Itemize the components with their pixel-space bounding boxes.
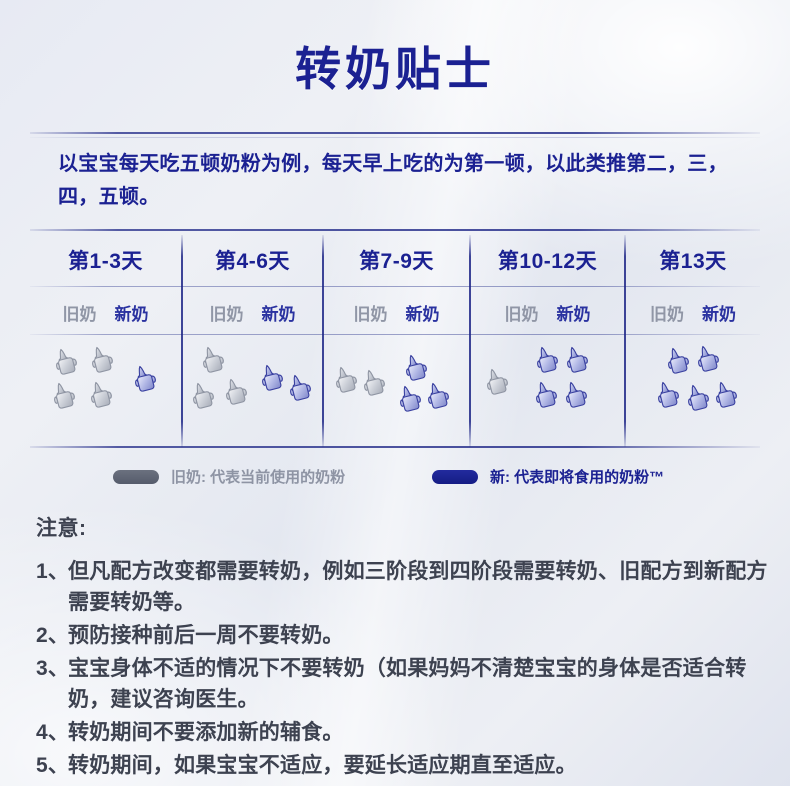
note-item: 2、 预防接种前后一周不要转奶。	[36, 620, 776, 651]
column-day-label: 第7-9天	[324, 231, 469, 275]
note-item: 3、 宝宝身体不适的情况下不要转奶（如果妈妈不清楚宝宝的身体是否适合转奶，建议咨…	[36, 653, 776, 715]
old-milk-label: 旧奶	[210, 300, 244, 325]
legend: 旧奶: 代表当前使用的奶粉 新: 代表即将食用的奶粉™	[0, 462, 790, 494]
bottle-icon-old	[50, 378, 84, 412]
bottle-icon-old	[87, 377, 121, 411]
legend-old-milk: 旧奶: 代表当前使用的奶粉	[113, 466, 345, 487]
page-title: 转奶贴士	[0, 33, 790, 99]
column-day-label: 第1-3天	[30, 231, 181, 275]
bottle-icon-old	[52, 344, 86, 378]
transition-table: 第1-3天 旧奶 新奶	[30, 231, 760, 448]
old-milk-label: 旧奶	[354, 300, 388, 325]
divider-top-shadow	[30, 137, 760, 138]
column-bottle-icons	[30, 336, 181, 441]
column-subheader: 旧奶 新奶	[183, 290, 322, 335]
bottle-icon-new	[694, 341, 728, 375]
divider-top	[30, 132, 760, 134]
column-subheader: 旧奶 新奶	[324, 290, 469, 335]
note-text: 预防接种前后一周不要转奶。	[68, 620, 776, 651]
note-text: 转奶期间不要添加新的辅食。	[68, 717, 776, 748]
column-bottle-icons	[471, 336, 624, 441]
bottle-icon-old	[360, 365, 394, 399]
legend-old-text: 旧奶: 代表当前使用的奶粉	[171, 466, 345, 487]
note-number: 5、	[36, 750, 68, 781]
bottle-icon-old	[189, 378, 223, 412]
notes-heading: 注意:	[36, 512, 776, 542]
old-milk-label: 旧奶	[505, 300, 539, 325]
new-milk-label: 新奶	[115, 300, 149, 325]
bottle-icon-new	[563, 342, 597, 376]
note-item: 4、 转奶期间不要添加新的辅食。	[36, 717, 776, 748]
column-day-label: 第10-12天	[471, 231, 624, 275]
column-subheader: 旧奶 新奶	[626, 290, 760, 335]
bottle-icon-old	[483, 364, 517, 398]
new-milk-label: 新奶	[262, 300, 296, 325]
legend-new-milk: 新: 代表即将食用的奶粉™	[432, 466, 664, 487]
table-column-5: 第13天 旧奶 新奶	[626, 231, 760, 448]
bottle-icon-new	[424, 378, 458, 412]
note-number: 1、	[36, 556, 68, 618]
column-subheader: 旧奶 新奶	[30, 290, 181, 335]
bottle-icon-new	[131, 361, 165, 395]
new-milk-label: 新奶	[702, 300, 736, 325]
bottle-icon-old	[199, 342, 233, 376]
bottle-icon-new	[532, 377, 566, 411]
bottle-icon-old	[88, 342, 122, 376]
column-bottle-icons	[324, 336, 469, 441]
old-milk-label: 旧奶	[650, 300, 684, 325]
column-bottle-icons	[626, 336, 760, 441]
column-day-label: 第13天	[626, 231, 760, 275]
note-item: 1、 但凡配方改变都需要转奶，例如三阶段到四阶段需要转奶、旧配方到新配方需要转奶…	[36, 556, 776, 618]
table-column-3: 第7-9天 旧奶 新奶	[324, 231, 469, 448]
column-day-label: 第4-6天	[183, 231, 322, 275]
old-milk-label: 旧奶	[63, 300, 97, 325]
intro-text: 以宝宝每天吃五顿奶粉为例，每天早上吃的为第一顿，以此类推第二，三，四，五顿。	[58, 148, 748, 214]
note-number: 4、	[36, 717, 68, 748]
legend-old-swatch-icon	[113, 470, 159, 484]
bottle-icon-new	[286, 370, 320, 404]
new-milk-label: 新奶	[406, 300, 440, 325]
column-subheader: 旧奶 新奶	[471, 290, 624, 335]
bottle-icon-new	[533, 342, 567, 376]
note-number: 3、	[36, 653, 68, 715]
infographic-page: 转奶贴士 以宝宝每天吃五顿奶粉为例，每天早上吃的为第一顿，以此类推第二，三，四，…	[0, 0, 790, 786]
column-bottle-icons	[183, 336, 322, 441]
legend-new-text: 新: 代表即将食用的奶粉™	[490, 466, 664, 487]
table-column-4: 第10-12天 旧奶 新奶	[471, 231, 624, 448]
bottle-icon-old	[222, 374, 256, 408]
bottle-icon-new	[712, 377, 746, 411]
note-text: 宝宝身体不适的情况下不要转奶（如果妈妈不清楚宝宝的身体是否适合转奶，建议咨询医生…	[68, 653, 776, 715]
bottle-icon-new	[562, 377, 596, 411]
note-text: 但凡配方改变都需要转奶，例如三阶段到四阶段需要转奶、旧配方到新配方需要转奶等。	[68, 556, 776, 618]
bottle-icon-new	[664, 343, 698, 377]
legend-new-swatch-icon	[432, 470, 478, 484]
notes-section: 注意: 1、 但凡配方改变都需要转奶，例如三阶段到四阶段需要转奶、旧配方到新配方…	[36, 512, 776, 783]
note-item: 5、 转奶期间，如果宝宝不适应，要延长适应期直至适应。	[36, 750, 776, 781]
table-column-2: 第4-6天 旧奶 新奶	[183, 231, 322, 448]
table-column-1: 第1-3天 旧奶 新奶	[30, 231, 181, 448]
bottle-icon-new	[654, 377, 688, 411]
note-text: 转奶期间，如果宝宝不适应，要延长适应期直至适应。	[68, 750, 776, 781]
note-number: 2、	[36, 620, 68, 651]
new-milk-label: 新奶	[557, 300, 591, 325]
